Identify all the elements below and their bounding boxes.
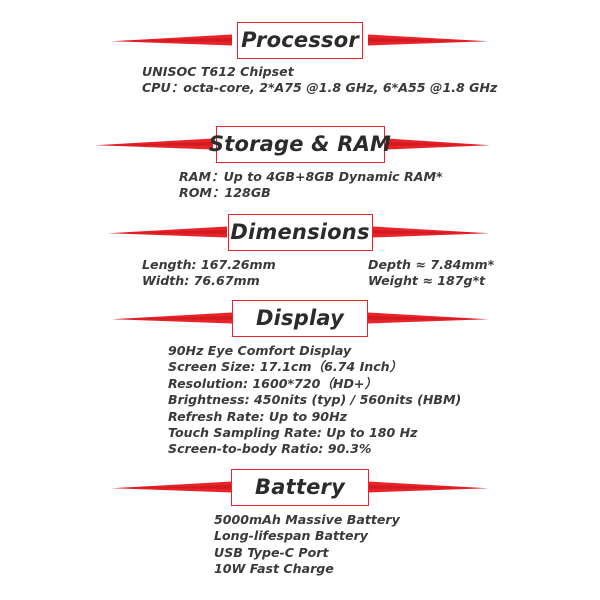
divider-rule-left	[0, 467, 232, 507]
section-title-box-display: Display	[232, 300, 368, 337]
section-title-box-storage-ram: Storage & RAM	[216, 126, 385, 163]
section-storage-ram: Storage & RAM RAM：Up to 4GB+8GB Dynamic …	[0, 124, 600, 164]
section-title-box-battery: Battery	[231, 469, 369, 506]
section-header-display: Display	[0, 298, 600, 338]
spec-line: Width: 76.67mm	[142, 273, 276, 289]
section-header-storage-ram: Storage & RAM	[0, 124, 600, 164]
spec-line: UNISOC T612 Chipset	[142, 64, 497, 80]
spec-line: 90Hz Eye Comfort Display	[168, 343, 461, 359]
spec-line: Depth ≈ 7.84mm*	[368, 257, 494, 273]
divider-rule-left	[0, 20, 232, 60]
spec-list-battery: 5000mAh Massive Battery Long-lifespan Ba…	[214, 512, 400, 578]
spec-line: CPU：octa-core, 2*A75 @1.8 GHz, 6*A55 @1.…	[142, 80, 497, 96]
spec-line: Touch Sampling Rate: Up to 180 Hz	[168, 425, 461, 441]
divider-rule-left	[0, 124, 213, 164]
spec-list-processor: UNISOC T612 Chipset CPU：octa-core, 2*A75…	[142, 64, 497, 97]
divider-rule-right	[368, 467, 600, 507]
spec-sheet: Processor UNISOC T612 Chipset CPU：octa-c…	[0, 0, 600, 600]
spec-line: 10W Fast Charge	[214, 561, 400, 577]
spec-line: RAM：Up to 4GB+8GB Dynamic RAM*	[179, 169, 443, 185]
spec-line: Long-lifespan Battery	[214, 528, 400, 544]
section-title-dimensions: Dimensions	[230, 222, 369, 243]
section-title-storage-ram: Storage & RAM	[209, 134, 391, 155]
spec-line: 5000mAh Massive Battery	[214, 512, 400, 528]
section-title-processor: Processor	[241, 30, 359, 51]
divider-rule-right	[368, 20, 600, 60]
section-title-box-processor: Processor	[237, 22, 363, 59]
spec-line: Screen Size: 17.1cm（6.74 Inch）	[168, 359, 461, 375]
divider-rule-right	[368, 298, 600, 338]
spec-list-display: 90Hz Eye Comfort Display Screen Size: 17…	[168, 343, 461, 458]
spec-line: ROM：128GB	[179, 185, 443, 201]
section-processor: Processor UNISOC T612 Chipset CPU：octa-c…	[0, 20, 600, 60]
spec-line: Screen-to-body Ratio: 90.3%	[168, 441, 461, 457]
spec-list-storage-ram: RAM：Up to 4GB+8GB Dynamic RAM* ROM：128GB	[179, 169, 443, 202]
section-display: Display 90Hz Eye Comfort Display Screen …	[0, 298, 600, 338]
section-header-processor: Processor	[0, 20, 600, 60]
spec-line: Resolution: 1600*720（HD+）	[168, 376, 461, 392]
spec-list-dimensions-left: Length: 167.26mm Width: 76.67mm	[142, 257, 276, 290]
spec-line: Weight ≈ 187g*t	[368, 273, 494, 289]
spec-line: Refresh Rate: Up to 90Hz	[168, 409, 461, 425]
divider-rule-left	[0, 212, 227, 252]
section-title-battery: Battery	[255, 477, 345, 498]
section-header-dimensions: Dimensions	[0, 212, 600, 252]
section-title-display: Display	[256, 308, 344, 329]
divider-rule-right	[373, 212, 600, 252]
section-battery: Battery 5000mAh Massive Battery Long-lif…	[0, 467, 600, 507]
section-header-battery: Battery	[0, 467, 600, 507]
divider-rule-right	[387, 124, 600, 164]
spec-line: Brightness: 450nits (typ) / 560nits (HBM…	[168, 392, 461, 408]
divider-rule-left	[0, 298, 232, 338]
section-dimensions: Dimensions Length: 167.26mm Width: 76.67…	[0, 212, 600, 252]
spec-line: USB Type-C Port	[214, 545, 400, 561]
spec-line: Length: 167.26mm	[142, 257, 276, 273]
section-title-box-dimensions: Dimensions	[228, 214, 373, 251]
spec-list-dimensions-right: Depth ≈ 7.84mm* Weight ≈ 187g*t	[368, 257, 494, 290]
